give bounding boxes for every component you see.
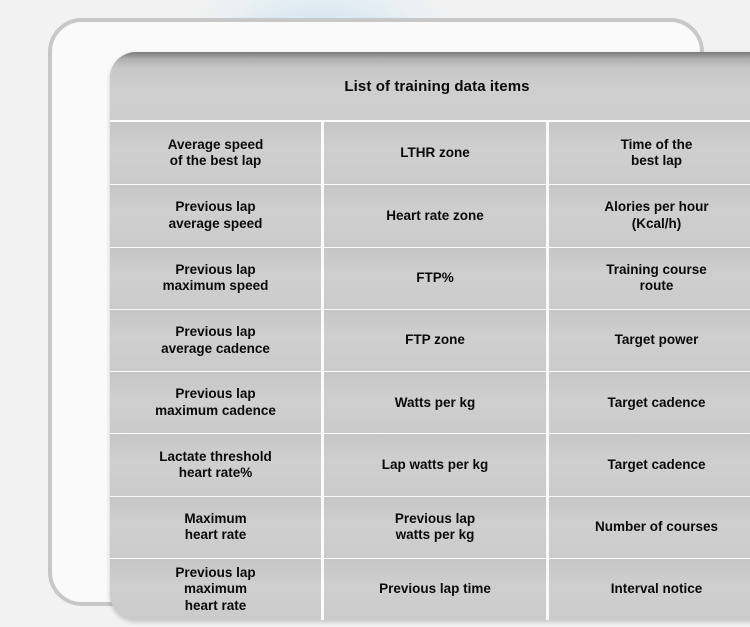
cell-label: Previous lap watts per kg [395,511,475,544]
cell-label: Heart rate zone [386,208,484,224]
table-cell[interactable]: Previous lap time [324,558,549,620]
cell-label: Target power [615,332,699,348]
table-cell[interactable]: Lactate threshold heart rate% [110,433,324,495]
cell-label: Previous lap maximum speed [163,262,269,295]
table-cell[interactable]: LTHR zone [324,122,549,184]
table-cell[interactable]: Heart rate zone [324,184,549,246]
cell-label: Previous lap time [379,581,491,597]
table-cell[interactable]: FTP% [324,247,549,309]
cell-label: Watts per kg [395,395,476,411]
table-cell[interactable]: Maximum heart rate [110,496,324,558]
cell-label: LTHR zone [400,145,470,161]
table-cell[interactable]: Average speed of the best lap [110,122,324,184]
table-cell[interactable]: Previous lap average cadence [110,309,324,371]
cell-label: Average speed of the best lap [168,137,264,170]
table-cell[interactable]: FTP zone [324,309,549,371]
table-cell[interactable]: Previous lap maximum cadence [110,371,324,433]
table-cell[interactable]: Previous lap maximum heart rate [110,558,324,620]
cell-label: Previous lap average speed [169,199,263,232]
cell-label: Maximum heart rate [184,511,246,544]
cell-label: Target cadence [607,457,705,473]
table-cell[interactable]: Watts per kg [324,371,549,433]
table-cell[interactable]: Previous lap average speed [110,184,324,246]
table-cell[interactable]: Training course route [549,247,750,309]
table-cell[interactable]: Previous lap watts per kg [324,496,549,558]
cell-label: Target cadence [607,395,705,411]
cell-label: Previous lap average cadence [161,324,270,357]
cell-label: Alories per hour (Kcal/h) [604,199,708,232]
outer-frame: List of training data items Average spee… [48,18,704,606]
training-data-panel: List of training data items Average spee… [110,52,750,620]
table-cell[interactable]: Target cadence [549,371,750,433]
table-cell[interactable]: Target power [549,309,750,371]
cell-label: Previous lap maximum cadence [155,386,276,419]
table-cell[interactable]: Target cadence [549,433,750,495]
cell-label: FTP zone [405,332,465,348]
cell-label: FTP% [416,270,454,286]
cell-label: Interval notice [611,581,703,597]
training-data-table: Average speed of the best lap LTHR zone … [110,120,750,620]
table-cell[interactable]: Previous lap maximum speed [110,247,324,309]
table-cell[interactable]: Alories per hour (Kcal/h) [549,184,750,246]
cell-label: Number of courses [595,519,718,535]
cell-label: Lap watts per kg [382,457,489,473]
table-cell[interactable]: Time of the best lap [549,122,750,184]
page-title: List of training data items [110,52,750,120]
table-cell[interactable]: Lap watts per kg [324,433,549,495]
table-cell[interactable]: Number of courses [549,496,750,558]
cell-label: Training course route [606,262,707,295]
cell-label: Previous lap maximum heart rate [175,565,255,614]
table-cell[interactable]: Interval notice [549,558,750,620]
cell-label: Lactate threshold heart rate% [159,449,272,482]
cell-label: Time of the best lap [621,137,693,170]
